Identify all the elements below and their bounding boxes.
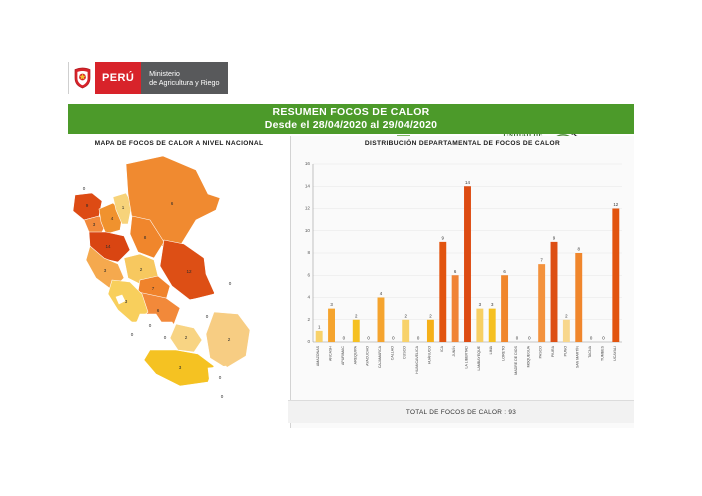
x-axis-category-label: MOQUEGUA	[526, 345, 530, 367]
chart-bar[interactable]	[464, 186, 471, 342]
chart-bar[interactable]	[402, 320, 409, 342]
map-region-value: 3	[93, 222, 96, 227]
map-region-value: 0	[149, 323, 152, 328]
report-title-line-1: RESUMEN FOCOS DE CALOR	[272, 106, 429, 119]
map-panel: MAPA DE FOCOS DE CALOR A NIVEL NACIONAL …	[68, 136, 291, 428]
peru-country-label: PERÚ	[95, 62, 141, 94]
chart-panel: DISTRIBUCIÓN DEPARTAMENTAL DE FOCOS DE C…	[291, 136, 634, 428]
bar-value-label: 9	[553, 235, 556, 240]
bar-value-label: 4	[380, 291, 383, 296]
chart-bar[interactable]	[452, 275, 459, 342]
chart-bar[interactable]	[612, 209, 619, 343]
map-region-value: 6	[171, 201, 174, 206]
chart-bar[interactable]	[439, 242, 446, 342]
map-region-value: 0	[83, 186, 86, 191]
bar-value-label: 8	[578, 247, 581, 252]
bar-value-label: 14	[465, 180, 470, 185]
bar-value-label: 7	[540, 258, 543, 263]
bar-value-label: 0	[602, 336, 605, 341]
peru-choropleth-map[interactable]: 09341681432127630000023200	[68, 154, 290, 426]
x-axis-category-label: HUANCAVELICA	[415, 345, 419, 373]
bar-value-label: 0	[528, 336, 531, 341]
y-axis-tick-label: 2	[307, 317, 310, 322]
chart-bar[interactable]	[538, 264, 545, 342]
chart-bar[interactable]	[489, 309, 496, 342]
x-axis-category-label: LA LIBERTAD	[465, 346, 469, 369]
x-axis-category-label: HUÁNUCO	[427, 346, 431, 364]
y-axis-tick-label: 16	[305, 161, 311, 166]
x-axis-category-label: AREQUIPA	[353, 345, 357, 364]
map-region-value: 14	[105, 244, 111, 249]
x-axis-category-label: LAMBAYEQUE	[477, 345, 481, 370]
bar-value-label: 3	[479, 302, 482, 307]
bar-value-label: 3	[491, 302, 494, 307]
peru-coat-of-arms-icon	[68, 62, 95, 94]
map-region-value: 0	[229, 281, 232, 286]
map-region-value: 1	[122, 205, 125, 210]
bar-value-label: 0	[417, 336, 420, 341]
y-axis-tick-label: 4	[307, 295, 310, 300]
map-region-value: 3	[104, 268, 107, 273]
x-axis-category-label: TUMBES	[600, 345, 604, 361]
bar-value-label: 2	[565, 313, 568, 318]
bar-value-label: 0	[392, 336, 395, 341]
map-region-value: 6	[157, 308, 160, 313]
map-region-value: 0	[131, 332, 134, 337]
chart-bar[interactable]	[476, 309, 483, 342]
chart-bar[interactable]	[328, 309, 335, 342]
map-region-value: 8	[144, 235, 147, 240]
y-axis-tick-label: 10	[305, 228, 311, 233]
x-axis-category-label: LIMA	[489, 345, 493, 354]
map-region-value: 4	[111, 216, 114, 221]
x-axis-category-label: CALLAO	[390, 346, 394, 360]
chart-bar[interactable]	[575, 253, 582, 342]
chart-bar[interactable]	[378, 298, 385, 343]
peru-government-logo: PERÚ Ministerio de Agricultura y Riego	[68, 62, 228, 94]
y-axis-tick-label: 0	[307, 339, 310, 344]
chart-bar[interactable]	[501, 275, 508, 342]
x-axis-category-label: LORETO	[502, 346, 506, 361]
map-panel-title: MAPA DE FOCOS DE CALOR A NIVEL NACIONAL	[68, 140, 290, 147]
bar-value-label: 3	[330, 302, 333, 307]
x-axis-category-label: ICA	[440, 345, 444, 352]
ministry-label: Ministerio de Agricultura y Riego	[141, 62, 227, 94]
map-region-value: 9	[86, 203, 89, 208]
chart-bar[interactable]	[551, 242, 558, 342]
panels-container: MAPA DE FOCOS DE CALOR A NIVEL NACIONAL …	[68, 136, 634, 428]
map-region-value: 2	[140, 267, 143, 272]
report-header: PERÚ Ministerio de Agricultura y Riego S…	[0, 62, 702, 104]
x-axis-category-label: SAN MARTÍN	[576, 346, 580, 369]
map-region-value: 2	[228, 337, 231, 342]
bar-value-label: 0	[367, 336, 370, 341]
bar-value-label: 0	[516, 336, 519, 341]
x-axis-category-label: AMAZONAS	[316, 345, 320, 366]
map-region-value: 3	[179, 365, 182, 370]
total-heat-spots-label: TOTAL DE FOCOS DE CALOR : 93	[288, 400, 634, 423]
chart-bar[interactable]	[427, 320, 434, 342]
departmental-bar-chart[interactable]: 02468101214161AMAZONAS3ANCASH0APURIMAC2A…	[291, 154, 634, 428]
y-axis-tick-label: 6	[307, 272, 310, 277]
map-region-value: 0	[164, 335, 167, 340]
ministry-line-2: de Agricultura y Riego	[149, 78, 219, 87]
x-axis-category-label: PIURA	[551, 345, 555, 357]
y-axis-tick-label: 8	[307, 250, 310, 255]
x-axis-category-label: CAJAMARCA	[378, 345, 382, 368]
bar-value-label: 1	[318, 324, 321, 329]
bar-value-label: 0	[590, 336, 593, 341]
y-axis-tick-label: 12	[305, 206, 311, 211]
chart-panel-title: DISTRIBUCIÓN DEPARTAMENTAL DE FOCOS DE C…	[291, 140, 634, 147]
chart-bar[interactable]	[316, 331, 323, 342]
map-region-value: 12	[186, 269, 192, 274]
x-axis-category-label: ANCASH	[329, 346, 333, 361]
report-title-line-2: Desde el 28/04/2020 al 29/04/2020	[265, 119, 437, 132]
bar-value-label: 6	[503, 269, 506, 274]
x-axis-category-label: AYACUCHO	[366, 346, 370, 366]
chart-bar[interactable]	[563, 320, 570, 342]
bar-value-label: 9	[442, 235, 445, 240]
map-region-value: 7	[152, 286, 155, 291]
map-region-value: 2	[185, 335, 188, 340]
map-panel-footer	[68, 400, 288, 422]
report-title-band: RESUMEN FOCOS DE CALOR Desde el 28/04/20…	[68, 104, 634, 134]
x-axis-category-label: MADRE DE DIOS	[514, 345, 518, 374]
x-axis-category-label: PUNO	[563, 346, 567, 357]
bar-value-label: 2	[355, 313, 358, 318]
report-page: PERÚ Ministerio de Agricultura y Riego S…	[0, 0, 702, 496]
map-region-value: 0	[219, 375, 222, 380]
x-axis-category-label: PASCO	[539, 346, 543, 359]
map-region-value: 0	[206, 314, 209, 319]
map-region-value: 3	[125, 299, 128, 304]
ministry-line-1: Ministerio	[149, 69, 219, 78]
map-region-value: 0	[221, 394, 224, 399]
x-axis-category-label: JUNÍN	[452, 346, 456, 357]
x-axis-category-label: TACNA	[588, 345, 592, 358]
y-axis-tick-label: 14	[305, 183, 311, 188]
bar-value-label: 6	[454, 269, 457, 274]
chart-bar[interactable]	[353, 320, 360, 342]
bar-value-label: 0	[343, 336, 346, 341]
x-axis-category-label: CUSCO	[403, 346, 407, 359]
x-axis-category-label: UCAYALI	[613, 346, 617, 361]
bar-value-label: 12	[613, 202, 618, 207]
bar-value-label: 2	[429, 313, 432, 318]
bar-value-label: 2	[404, 313, 407, 318]
x-axis-category-label: APURIMAC	[341, 346, 345, 365]
